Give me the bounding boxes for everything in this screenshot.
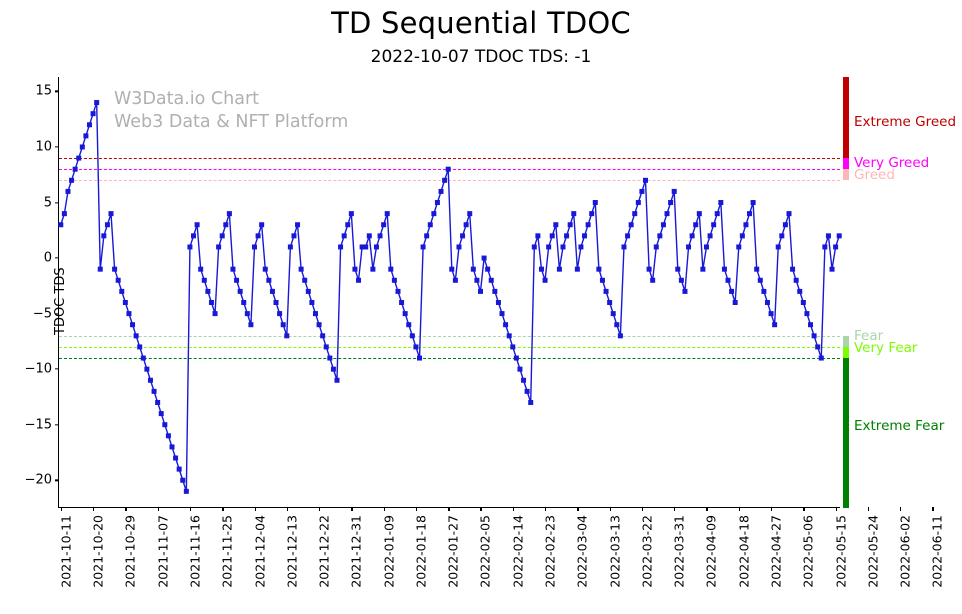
series-marker: [589, 211, 594, 216]
x-tick-label: 2021-12-31: [349, 515, 364, 588]
series-marker: [73, 167, 78, 172]
series-marker: [198, 267, 203, 272]
series-marker: [410, 333, 415, 338]
series-marker: [202, 278, 207, 283]
series-marker: [431, 211, 436, 216]
series-marker: [180, 478, 185, 483]
series-marker: [665, 211, 670, 216]
series-marker: [331, 367, 336, 372]
x-tick-label: 2022-01-27: [446, 515, 461, 588]
series-marker: [571, 211, 576, 216]
series-marker: [109, 211, 114, 216]
series-marker: [238, 289, 243, 294]
series-marker: [521, 378, 526, 383]
chart-canvas: TD Sequential TDOC 2022-10-07 TDOC TDS: …: [0, 0, 962, 614]
series-marker: [137, 344, 142, 349]
series-marker: [464, 222, 469, 227]
zone-bar-extreme-fear: [843, 358, 849, 508]
series-marker: [421, 244, 426, 249]
series-marker: [625, 233, 630, 238]
series-marker: [629, 222, 634, 227]
series-marker: [256, 233, 261, 238]
series-marker: [593, 200, 598, 205]
series-marker: [797, 289, 802, 294]
series-marker: [87, 122, 92, 127]
series-marker: [711, 222, 716, 227]
series-marker: [374, 244, 379, 249]
series-marker: [159, 411, 164, 416]
x-tick-label: 2022-04-27: [769, 515, 784, 588]
chart-subtitle: 2022-10-07 TDOC TDS: -1: [0, 47, 962, 67]
plot-area: TDOC TDS 151050−5−10−15−20 2021-10-11202…: [58, 77, 840, 508]
series-marker: [184, 489, 189, 494]
series-marker: [324, 344, 329, 349]
series-marker: [216, 244, 221, 249]
series-marker: [98, 267, 103, 272]
series-marker: [187, 244, 192, 249]
series-marker: [105, 222, 110, 227]
zone-label-greed: Greed: [854, 167, 895, 183]
series-marker: [528, 400, 533, 405]
series-marker: [130, 322, 135, 327]
series-marker: [657, 233, 662, 238]
series-marker: [500, 311, 505, 316]
series-marker: [561, 244, 566, 249]
series-marker: [639, 189, 644, 194]
x-tick-label: 2021-12-13: [284, 515, 299, 588]
series-marker: [471, 267, 476, 272]
series-marker: [607, 300, 612, 305]
data-series-tdoc-tds: [59, 77, 841, 508]
series-marker: [804, 311, 809, 316]
series-marker: [783, 222, 788, 227]
series-marker: [205, 289, 210, 294]
series-marker: [740, 233, 745, 238]
series-marker: [726, 278, 731, 283]
series-marker: [510, 344, 515, 349]
series-marker: [808, 322, 813, 327]
series-marker: [503, 322, 508, 327]
series-marker: [277, 311, 282, 316]
series-marker: [614, 322, 619, 327]
series-marker: [697, 211, 702, 216]
series-marker: [794, 278, 799, 283]
x-tick-label: 2022-04-09: [704, 515, 719, 588]
x-tick-mark: [932, 507, 933, 511]
series-marker: [148, 378, 153, 383]
series-marker: [539, 267, 544, 272]
y-tick-label: −10: [25, 362, 52, 377]
series-marker: [317, 322, 322, 327]
series-marker: [281, 322, 286, 327]
series-marker: [532, 244, 537, 249]
series-marker: [259, 222, 264, 227]
series-marker: [349, 211, 354, 216]
series-marker: [758, 278, 763, 283]
series-marker: [474, 278, 479, 283]
series-marker: [618, 333, 623, 338]
series-marker: [564, 233, 569, 238]
series-marker: [91, 111, 96, 116]
series-marker: [213, 311, 218, 316]
series-marker: [772, 322, 777, 327]
x-tick-label: 2022-05-15: [833, 515, 848, 588]
zone-bar-extreme-greed: [843, 77, 849, 158]
series-marker: [822, 244, 827, 249]
series-marker: [309, 300, 314, 305]
x-tick-label: 2022-06-11: [930, 515, 945, 588]
series-marker: [101, 233, 106, 238]
series-marker: [435, 200, 440, 205]
x-tick-mark: [868, 507, 869, 511]
series-marker: [586, 222, 591, 227]
series-marker: [209, 300, 214, 305]
series-marker: [643, 178, 648, 183]
series-marker: [496, 300, 501, 305]
series-marker: [417, 356, 422, 361]
series-marker: [58, 222, 63, 227]
series-marker: [553, 222, 558, 227]
series-marker: [320, 333, 325, 338]
series-marker: [715, 211, 720, 216]
y-tick-label: −15: [25, 417, 52, 432]
series-marker: [489, 278, 494, 283]
series-marker: [378, 233, 383, 238]
series-marker: [801, 300, 806, 305]
x-tick-label: 2021-12-04: [252, 515, 267, 588]
series-marker: [367, 233, 372, 238]
series-marker: [826, 233, 831, 238]
series-marker: [621, 244, 626, 249]
series-marker: [478, 289, 483, 294]
series-marker: [335, 378, 340, 383]
series-marker: [596, 267, 601, 272]
x-tick-label: 2021-12-22: [317, 515, 332, 588]
series-marker: [647, 267, 652, 272]
series-marker: [299, 267, 304, 272]
series-marker: [119, 289, 124, 294]
series-marker: [356, 278, 361, 283]
series-marker: [76, 156, 81, 161]
series-marker: [733, 300, 738, 305]
series-marker: [682, 289, 687, 294]
series-marker: [535, 233, 540, 238]
series-marker: [248, 322, 253, 327]
series-marker: [342, 233, 347, 238]
series-marker: [306, 289, 311, 294]
x-tick-label: 2022-05-06: [801, 515, 816, 588]
series-marker: [291, 233, 296, 238]
x-tick-label: 2021-10-11: [58, 515, 73, 588]
series-marker: [266, 278, 271, 283]
x-tick-label: 2021-10-29: [123, 515, 138, 588]
series-marker: [675, 267, 680, 272]
series-marker: [700, 267, 705, 272]
series-marker: [403, 311, 408, 316]
series-marker: [686, 244, 691, 249]
series-marker: [482, 256, 487, 261]
series-marker: [819, 356, 824, 361]
x-tick-label: 2022-03-13: [607, 515, 622, 588]
x-tick-label: 2021-11-25: [220, 515, 235, 588]
zone-label-extreme-fear: Extreme Fear: [854, 418, 944, 434]
series-marker: [557, 267, 562, 272]
zone-label-extreme-greed: Extreme Greed: [854, 114, 956, 130]
series-marker: [252, 244, 257, 249]
series-marker: [611, 311, 616, 316]
y-tick-label: −20: [25, 473, 52, 488]
series-marker: [220, 233, 225, 238]
series-marker: [123, 300, 128, 305]
series-marker: [690, 233, 695, 238]
series-marker: [779, 233, 784, 238]
series-marker: [177, 467, 182, 472]
series-marker: [94, 100, 99, 105]
series-marker: [338, 244, 343, 249]
series-marker: [162, 422, 167, 427]
series-marker: [830, 267, 835, 272]
series-marker: [460, 233, 465, 238]
series-marker: [223, 222, 228, 227]
series-marker: [152, 389, 157, 394]
zone-bar-fear: [843, 336, 849, 347]
series-marker: [381, 222, 386, 227]
series-marker: [467, 211, 472, 216]
series-marker: [345, 222, 350, 227]
series-marker: [327, 356, 332, 361]
series-marker: [636, 200, 641, 205]
series-marker: [833, 244, 838, 249]
series-marker: [661, 222, 666, 227]
series-marker: [449, 267, 454, 272]
series-marker: [413, 344, 418, 349]
series-marker: [446, 167, 451, 172]
series-marker: [790, 267, 795, 272]
series-marker: [428, 222, 433, 227]
series-marker: [704, 244, 709, 249]
series-marker: [650, 278, 655, 283]
series-marker: [230, 267, 235, 272]
series-marker: [234, 278, 239, 283]
series-marker: [517, 367, 522, 372]
series-marker: [582, 233, 587, 238]
series-marker: [718, 200, 723, 205]
series-marker: [708, 233, 713, 238]
x-tick-label: 2021-11-16: [187, 515, 202, 588]
series-marker: [654, 244, 659, 249]
series-marker: [62, 211, 67, 216]
series-marker: [370, 267, 375, 272]
zone-label-very-fear: Very Fear: [854, 340, 917, 356]
series-marker: [141, 356, 146, 361]
series-marker: [173, 456, 178, 461]
series-marker: [672, 189, 677, 194]
chart-title: TD Sequential TDOC: [0, 6, 962, 40]
series-marker: [747, 211, 752, 216]
x-tick-label: 2022-03-04: [575, 515, 590, 588]
series-marker: [668, 200, 673, 205]
series-marker: [166, 433, 171, 438]
series-marker: [313, 311, 318, 316]
series-marker: [456, 244, 461, 249]
series-marker: [65, 189, 70, 194]
series-marker: [568, 222, 573, 227]
x-tick-label: 2022-05-24: [865, 515, 880, 588]
y-tick-label: 0: [44, 251, 52, 266]
series-marker: [769, 311, 774, 316]
series-marker: [302, 278, 307, 283]
series-marker: [578, 244, 583, 249]
series-marker: [363, 244, 368, 249]
series-marker: [729, 289, 734, 294]
series-marker: [395, 289, 400, 294]
series-marker: [736, 244, 741, 249]
series-marker: [170, 444, 175, 449]
series-marker: [284, 333, 289, 338]
zone-bar-very-fear: [843, 347, 849, 358]
series-marker: [525, 389, 530, 394]
series-marker: [134, 333, 139, 338]
series-marker: [550, 233, 555, 238]
series-marker: [439, 189, 444, 194]
series-marker: [116, 278, 121, 283]
series-marker: [754, 267, 759, 272]
x-tick-label: 2022-04-18: [736, 515, 751, 588]
series-marker: [600, 278, 605, 283]
x-tick-label: 2022-02-23: [543, 515, 558, 588]
series-line: [61, 103, 839, 492]
series-marker: [295, 222, 300, 227]
series-marker: [69, 178, 74, 183]
series-marker: [352, 267, 357, 272]
x-tick-mark: [900, 507, 901, 511]
series-marker: [245, 311, 250, 316]
series-marker: [453, 278, 458, 283]
y-tick-label: 5: [44, 195, 52, 210]
series-marker: [514, 356, 519, 361]
series-marker: [765, 300, 770, 305]
series-marker: [288, 244, 293, 249]
series-marker: [604, 289, 609, 294]
series-marker: [195, 222, 200, 227]
series-marker: [191, 233, 196, 238]
series-marker: [263, 267, 268, 272]
series-marker: [507, 333, 512, 338]
series-marker: [227, 211, 232, 216]
x-tick-label: 2022-03-31: [672, 515, 687, 588]
series-marker: [155, 400, 160, 405]
series-marker: [751, 200, 756, 205]
series-marker: [442, 178, 447, 183]
series-marker: [693, 222, 698, 227]
series-marker: [575, 267, 580, 272]
series-marker: [761, 289, 766, 294]
x-tick-label: 2022-02-05: [478, 515, 493, 588]
zone-bar-greed: [843, 169, 849, 180]
series-marker: [388, 267, 393, 272]
series-marker: [679, 278, 684, 283]
series-marker: [812, 333, 817, 338]
y-tick-label: 10: [35, 139, 52, 154]
series-marker: [392, 278, 397, 283]
x-tick-label: 2022-01-09: [381, 515, 396, 588]
series-marker: [543, 278, 548, 283]
series-marker: [743, 222, 748, 227]
x-tick-label: 2021-11-07: [155, 515, 170, 588]
series-marker: [786, 211, 791, 216]
x-tick-label: 2022-01-18: [413, 515, 428, 588]
x-tick-label: 2022-02-14: [510, 515, 525, 588]
series-marker: [241, 300, 246, 305]
series-marker: [144, 367, 149, 372]
x-tick-label: 2021-10-20: [91, 515, 106, 588]
series-marker: [270, 289, 275, 294]
series-marker: [632, 211, 637, 216]
series-marker: [399, 300, 404, 305]
x-tick-label: 2022-06-02: [898, 515, 913, 588]
series-marker: [837, 233, 842, 238]
y-tick-label: −5: [33, 306, 52, 321]
series-marker: [274, 300, 279, 305]
series-marker: [385, 211, 390, 216]
series-marker: [406, 322, 411, 327]
series-marker: [126, 311, 131, 316]
x-tick-label: 2022-03-22: [639, 515, 654, 588]
series-marker: [112, 267, 117, 272]
zone-bar-very-greed: [843, 158, 849, 169]
series-marker: [776, 244, 781, 249]
series-marker: [492, 289, 497, 294]
series-marker: [722, 267, 727, 272]
series-marker: [485, 267, 490, 272]
series-marker: [83, 133, 88, 138]
y-tick-label: 15: [35, 84, 52, 99]
series-marker: [424, 233, 429, 238]
series-marker: [80, 144, 85, 149]
series-marker: [546, 244, 551, 249]
series-marker: [815, 344, 820, 349]
